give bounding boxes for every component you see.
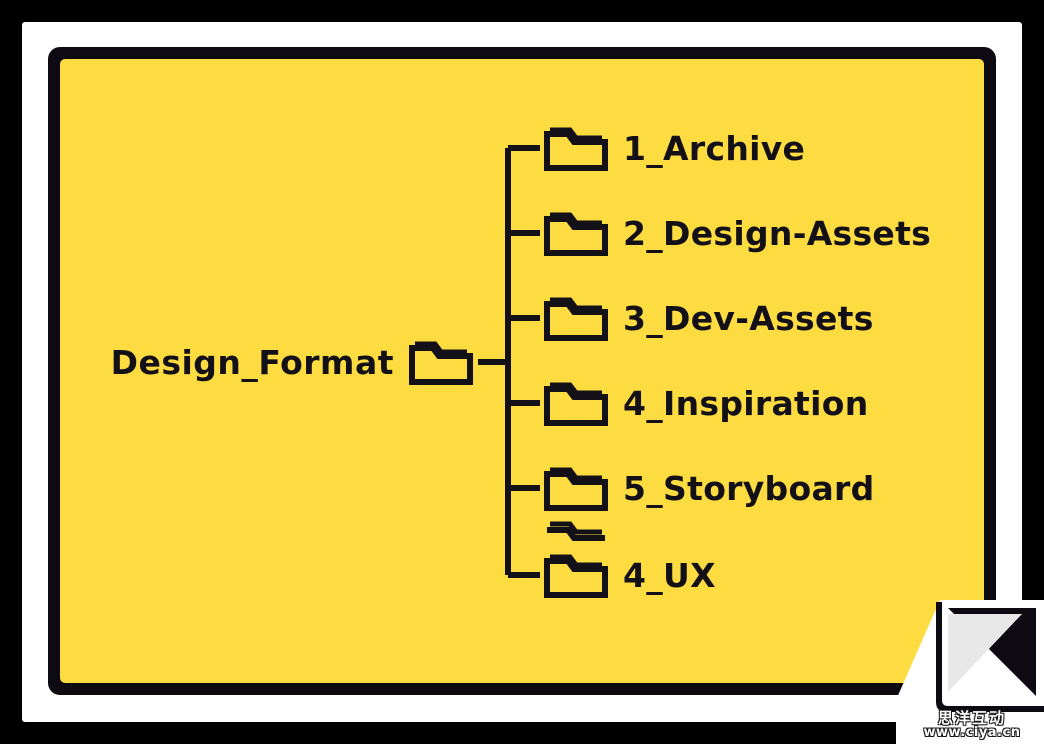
folder-icon bbox=[408, 338, 474, 386]
watermark-url: www.ciya.cn bbox=[908, 726, 1036, 740]
folder-icon bbox=[543, 209, 609, 257]
tree-child-row-6[interactable]: 4_UX bbox=[543, 549, 716, 601]
screenshot-root: Design_Format 1_Archive 2_Design-Assets … bbox=[0, 0, 1044, 744]
watermark-brand: 思洋互动 bbox=[908, 711, 1036, 727]
watermark: 思洋互动 www.ciya.cn bbox=[908, 711, 1036, 740]
folder-icon bbox=[543, 294, 609, 342]
tree-child-row-4[interactable]: 4_Inspiration bbox=[543, 377, 869, 429]
child-label: 2_Design-Assets bbox=[623, 217, 931, 250]
tree-child-row-1[interactable]: 1_Archive bbox=[543, 122, 805, 174]
child-label: 1_Archive bbox=[623, 132, 805, 165]
tree-child-row-5[interactable]: 5_Storyboard bbox=[543, 462, 875, 514]
folder-icon bbox=[543, 124, 609, 172]
folder-icon bbox=[543, 379, 609, 427]
folder-icon bbox=[543, 464, 609, 512]
tree-child-row-3[interactable]: 3_Dev-Assets bbox=[543, 292, 874, 344]
tree-child-row-2[interactable]: 2_Design-Assets bbox=[543, 207, 931, 259]
child-label: 4_Inspiration bbox=[623, 387, 869, 420]
child-label: 3_Dev-Assets bbox=[623, 302, 874, 335]
root-label: Design_Format bbox=[111, 346, 394, 379]
folder-icon bbox=[543, 551, 609, 599]
child-label: 5_Storyboard bbox=[623, 472, 875, 505]
child-label: 4_UX bbox=[623, 559, 716, 592]
tree-root-node[interactable]: Design_Format bbox=[84, 336, 474, 388]
